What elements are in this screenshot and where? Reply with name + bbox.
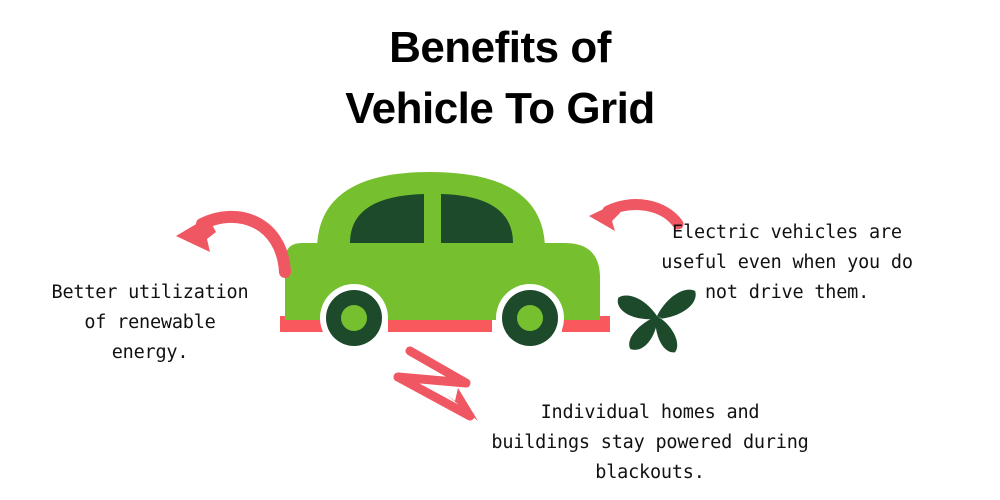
curved-arrow-left	[176, 217, 285, 272]
caption-left: Better utilization of renewable energy.	[14, 278, 286, 368]
caption-bottom-line-1: Individual homes and	[440, 398, 860, 428]
caption-bottom-line-3: blackouts.	[440, 458, 860, 488]
car-wheel-front	[320, 284, 388, 352]
caption-right-line-2: useful even when you do	[622, 248, 952, 278]
caption-right-line-3: not drive them.	[622, 278, 952, 308]
caption-left-line-1: Better utilization	[14, 278, 286, 308]
infographic-canvas: Benefits of Vehicle To Grid	[0, 0, 1000, 500]
caption-left-line-2: of renewable	[14, 308, 286, 338]
caption-left-line-3: energy.	[14, 338, 286, 368]
leaf-petal-lower-left	[626, 316, 660, 350]
caption-bottom-line-2: buildings stay powered during	[440, 428, 860, 458]
caption-bottom: Individual homes and buildings stay powe…	[440, 398, 860, 488]
car-wheel-rear	[496, 284, 564, 352]
leaf-petal-lower-right	[655, 314, 678, 354]
caption-right: Electric vehicles are useful even when y…	[622, 218, 952, 308]
caption-right-line-1: Electric vehicles are	[622, 218, 952, 248]
